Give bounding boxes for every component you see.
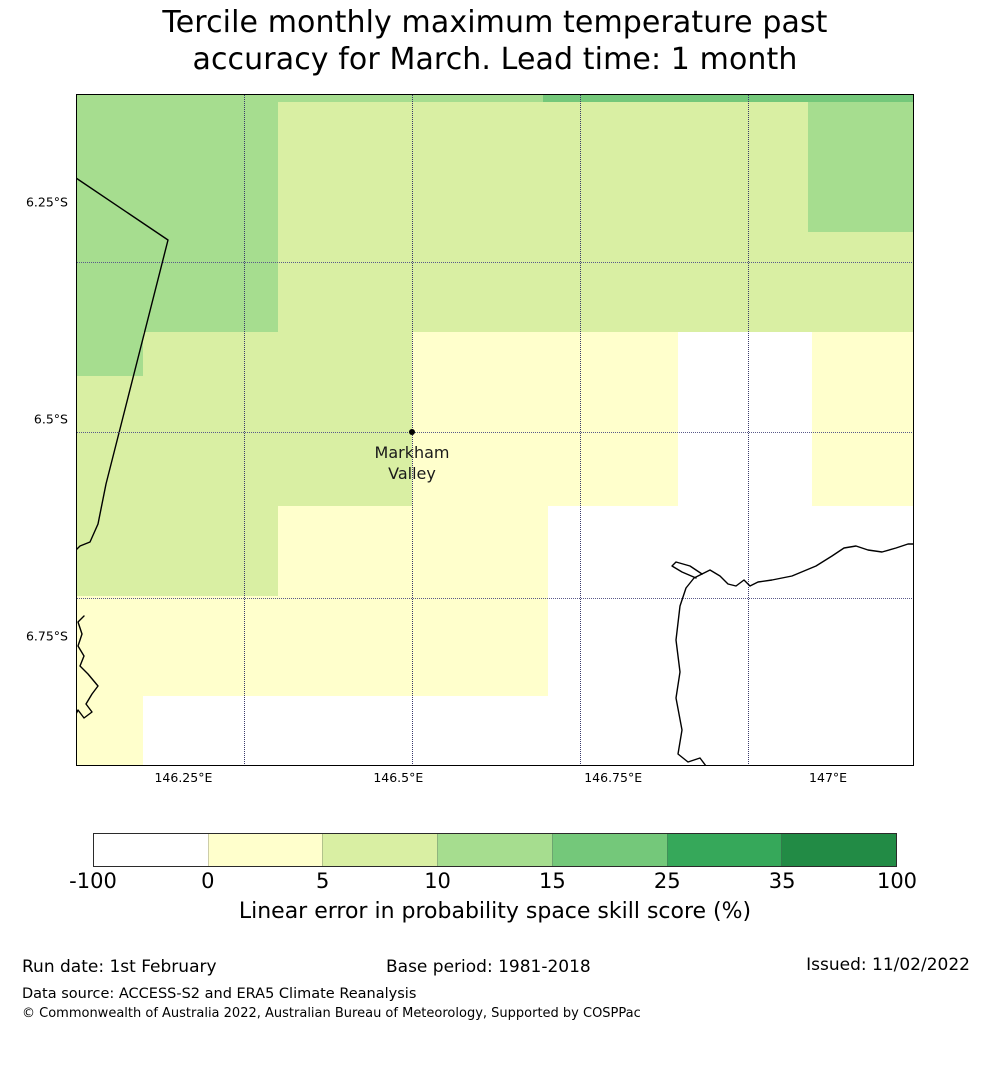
graticule-meridian	[748, 94, 749, 766]
latitude-tick-label: 6.5°S	[34, 412, 68, 427]
latitude-axis-labels: 6.25°S6.5°S6.75°S	[0, 94, 68, 766]
page-title: Tercile monthly maximum temperature past…	[0, 0, 990, 78]
longitude-tick-label: 146.25°E	[154, 770, 212, 785]
colorbar-tick-label: 100	[877, 869, 917, 893]
colorbar-axis-label: Linear error in probability space skill …	[0, 899, 990, 924]
issued-date-text: Issued: 11/02/2022	[806, 955, 970, 975]
colorbar-segment	[781, 834, 896, 866]
colorbar-segment	[437, 834, 552, 866]
graticule-parallel	[76, 262, 914, 263]
map-pin-dot-icon	[409, 429, 415, 435]
marker-label-line2: Valley	[375, 463, 450, 484]
copyright-text: © Commonwealth of Australia 2022, Austra…	[22, 1006, 641, 1021]
longitude-tick-label: 147°E	[809, 770, 847, 785]
colorbar-segments	[93, 833, 897, 867]
base-period-text: Base period: 1981-2018	[386, 957, 591, 977]
colorbar-tick-label: 35	[769, 869, 796, 893]
page-title-line1: Tercile monthly maximum temperature past	[0, 4, 990, 41]
colorbar-tick-label: 10	[424, 869, 451, 893]
graticule-parallel	[76, 432, 914, 433]
marker-label: Markham Valley	[375, 442, 450, 484]
graticule-meridian	[580, 94, 581, 766]
graticule-parallel	[76, 598, 914, 599]
colorbar-tick-label: -100	[69, 869, 117, 893]
colorbar-segment	[322, 834, 437, 866]
graticule	[76, 94, 914, 766]
map-panel[interactable]: Markham Valley	[76, 94, 914, 766]
colorbar-segment	[667, 834, 782, 866]
latitude-tick-label: 6.75°S	[26, 628, 68, 643]
colorbar-tick-label: 5	[316, 869, 329, 893]
longitude-axis-labels: 146.25°E146.5°E146.75°E147°E	[76, 770, 914, 790]
colorbar[interactable]	[93, 833, 897, 867]
longitude-tick-label: 146.5°E	[373, 770, 423, 785]
marker-label-line1: Markham	[375, 442, 450, 463]
page-title-line2: accuracy for March. Lead time: 1 month	[0, 41, 990, 78]
data-source-text: Data source: ACCESS-S2 and ERA5 Climate …	[22, 986, 416, 1002]
colorbar-tick-labels: -1000510152535100	[93, 869, 897, 895]
longitude-tick-label: 146.75°E	[584, 770, 642, 785]
colorbar-segment	[94, 834, 208, 866]
colorbar-segment	[552, 834, 667, 866]
colorbar-segment	[208, 834, 323, 866]
footer: Run date: 1st February Base period: 1981…	[0, 957, 990, 983]
run-date-text: Run date: 1st February	[22, 957, 217, 977]
colorbar-tick-label: 25	[654, 869, 681, 893]
colorbar-tick-label: 0	[201, 869, 214, 893]
graticule-meridian	[244, 94, 245, 766]
colorbar-tick-label: 15	[539, 869, 566, 893]
latitude-tick-label: 6.25°S	[26, 195, 68, 210]
map-raster-frame: Markham Valley	[76, 94, 914, 766]
